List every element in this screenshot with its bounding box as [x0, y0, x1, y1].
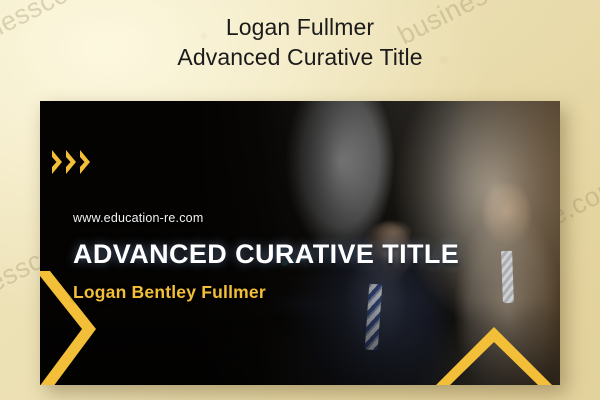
chevron-right-icon — [79, 148, 92, 176]
page-title: Logan Fullmer — [0, 13, 600, 42]
chevron-right-icon — [65, 148, 78, 176]
card-heading: ADVANCED CURATIVE TITLE — [73, 241, 459, 268]
chevron-right-icon — [51, 148, 64, 176]
card-website-url: www.education-re.com — [73, 211, 459, 225]
chevron-group — [51, 148, 92, 176]
card-author-name: Logan Bentley Fullmer — [73, 282, 459, 303]
page-heading-group: Logan Fullmer Advanced Curative Title — [0, 13, 600, 73]
page-subtitle: Advanced Curative Title — [0, 42, 600, 73]
card-text-block: www.education-re.com ADVANCED CURATIVE T… — [73, 211, 459, 303]
course-cover-card[interactable]: www.education-re.com ADVANCED CURATIVE T… — [40, 101, 560, 385]
page-root: businesscourse.com businesscourse.com bu… — [0, 0, 600, 400]
gold-corner-triangle — [434, 325, 554, 385]
